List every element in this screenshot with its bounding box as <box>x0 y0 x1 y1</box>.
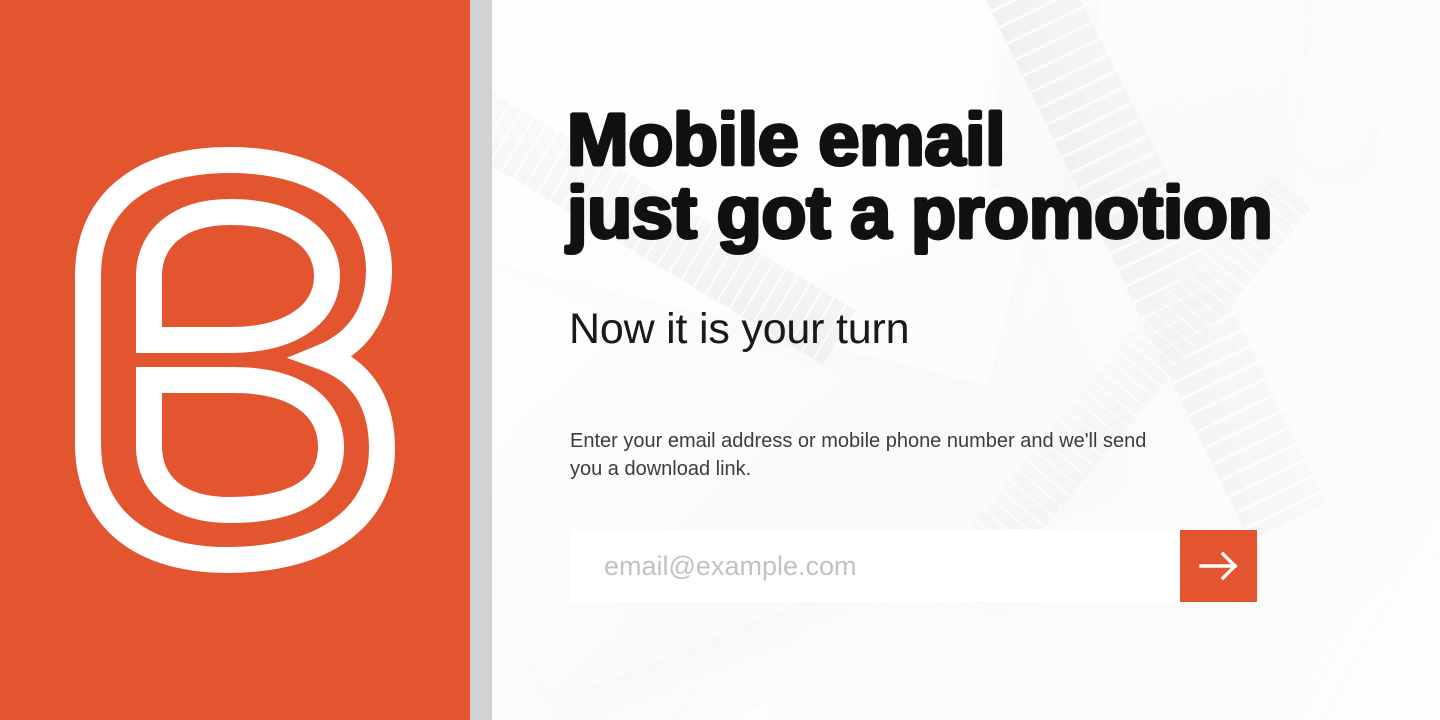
promo-content: Mobile email just got a promotion Now it… <box>567 0 1427 720</box>
email-input[interactable] <box>570 530 1180 602</box>
submit-button[interactable] <box>1180 530 1257 602</box>
headline-line-1: Mobile email <box>567 104 1407 177</box>
panel-divider <box>470 0 492 720</box>
outlined-b-logo <box>75 144 395 576</box>
page-title: Mobile email just got a promotion <box>567 104 1407 249</box>
photo-stage: Mobile email just got a promotion Now it… <box>470 0 1440 720</box>
brand-panel <box>0 0 470 720</box>
promo-banner: Mobile email just got a promotion Now it… <box>0 0 1440 720</box>
arrow-right-icon <box>1197 550 1241 582</box>
subheadline: Now it is your turn <box>569 305 909 354</box>
signup-form <box>570 530 1257 602</box>
headline-line-2: just got a promotion <box>567 177 1407 250</box>
body-copy: Enter your email address or mobile phone… <box>570 427 1170 484</box>
